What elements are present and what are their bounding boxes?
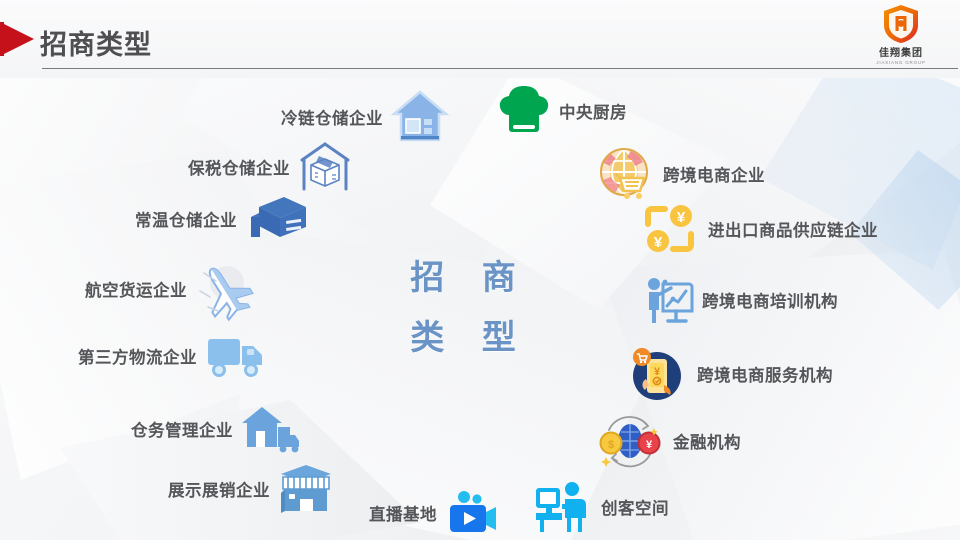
logo-name-en: JIAXIANG GROUP	[858, 60, 944, 65]
item-ambient-storage[interactable]: 常温仓储企业	[135, 193, 308, 245]
slide-canvas: 招商类型 佳翔集团 JIAXIANG GROUP 招 商 类 型 冷链仓储企业	[0, 0, 960, 540]
item-label: 跨境电商企业	[663, 162, 765, 186]
item-exhibition-sales[interactable]: 展示展销企业	[168, 463, 333, 515]
item-cross-border-training[interactable]: 跨境电商培训机构	[641, 275, 838, 325]
item-maker-space[interactable]: 创客空间	[534, 480, 669, 534]
item-label: 进出口商品供应链企业	[708, 217, 878, 241]
truck-logistics-icon	[206, 332, 268, 380]
item-air-freight[interactable]: 航空货运企业	[85, 261, 254, 317]
item-label: 创客空间	[601, 495, 669, 519]
item-label: 金融机构	[673, 429, 741, 453]
exhibition-store-icon	[279, 463, 333, 515]
center-heading-line1: 招 商	[388, 248, 538, 308]
warehouse-management-icon	[242, 405, 300, 453]
item-bonded-storage[interactable]: 保税仓储企业	[188, 141, 351, 193]
svg-text:¥: ¥	[654, 234, 663, 251]
header-divider	[42, 68, 958, 69]
item-label: 直播基地	[369, 501, 437, 525]
yuan-supply-chain-icon: ¥ ¥	[643, 203, 699, 255]
house-cold-storage-icon	[392, 90, 448, 144]
svg-text:¥: ¥	[646, 439, 653, 451]
chef-hat-icon	[498, 84, 550, 138]
ambient-warehouse-icon	[246, 193, 308, 245]
item-label: 常温仓储企业	[135, 207, 237, 231]
bonded-warehouse-box-icon	[299, 141, 351, 193]
item-label: 跨境电商服务机构	[697, 362, 833, 386]
item-cold-chain-storage[interactable]: 冷链仓储企业	[281, 90, 448, 144]
item-live-stream-base[interactable]: 直播基地	[369, 490, 498, 536]
item-label: 跨境电商培训机构	[702, 288, 838, 312]
item-label: 第三方物流企业	[78, 344, 197, 368]
item-cross-border-ecommerce[interactable]: 跨境电商企业	[598, 146, 765, 202]
item-label: 展示展销企业	[168, 477, 270, 501]
maker-space-desk-icon	[534, 480, 592, 534]
svg-text:¥: ¥	[654, 366, 661, 378]
company-logo: 佳翔集团 JIAXIANG GROUP	[858, 5, 944, 67]
item-central-kitchen[interactable]: 中央厨房	[498, 84, 627, 138]
globe-shopping-cart-icon	[598, 146, 654, 202]
item-label: 保税仓储企业	[188, 155, 290, 179]
live-stream-camera-icon	[446, 490, 498, 536]
item-third-party-logistics[interactable]: 第三方物流企业	[78, 332, 268, 380]
svg-text:$: $	[608, 439, 614, 451]
item-cross-border-service[interactable]: ¥ 跨境电商服务机构	[626, 345, 833, 403]
page-title: 招商类型	[40, 23, 152, 62]
header-arrow-icon	[0, 22, 34, 56]
item-label: 中央厨房	[559, 99, 627, 123]
currency-exchange-icon: $ ¥	[596, 410, 664, 472]
ecommerce-service-phone-icon: ¥	[626, 345, 688, 403]
center-heading-line2: 类 型	[388, 308, 538, 368]
item-label: 仓务管理企业	[131, 417, 233, 441]
item-import-export-supply-chain[interactable]: ¥ ¥ 进出口商品供应链企业	[643, 203, 878, 255]
airplane-cargo-icon	[196, 261, 254, 317]
logo-name-cn: 佳翔集团	[858, 44, 944, 59]
item-financial-institution[interactable]: $ ¥ 金融机构	[596, 410, 741, 472]
shield-icon	[884, 5, 918, 43]
item-label: 航空货运企业	[85, 277, 187, 301]
svg-text:¥: ¥	[677, 209, 686, 226]
training-chart-person-icon	[641, 275, 693, 325]
item-warehouse-management[interactable]: 仓务管理企业	[131, 405, 300, 453]
center-heading: 招 商 类 型	[388, 248, 538, 368]
item-label: 冷链仓储企业	[281, 105, 383, 129]
